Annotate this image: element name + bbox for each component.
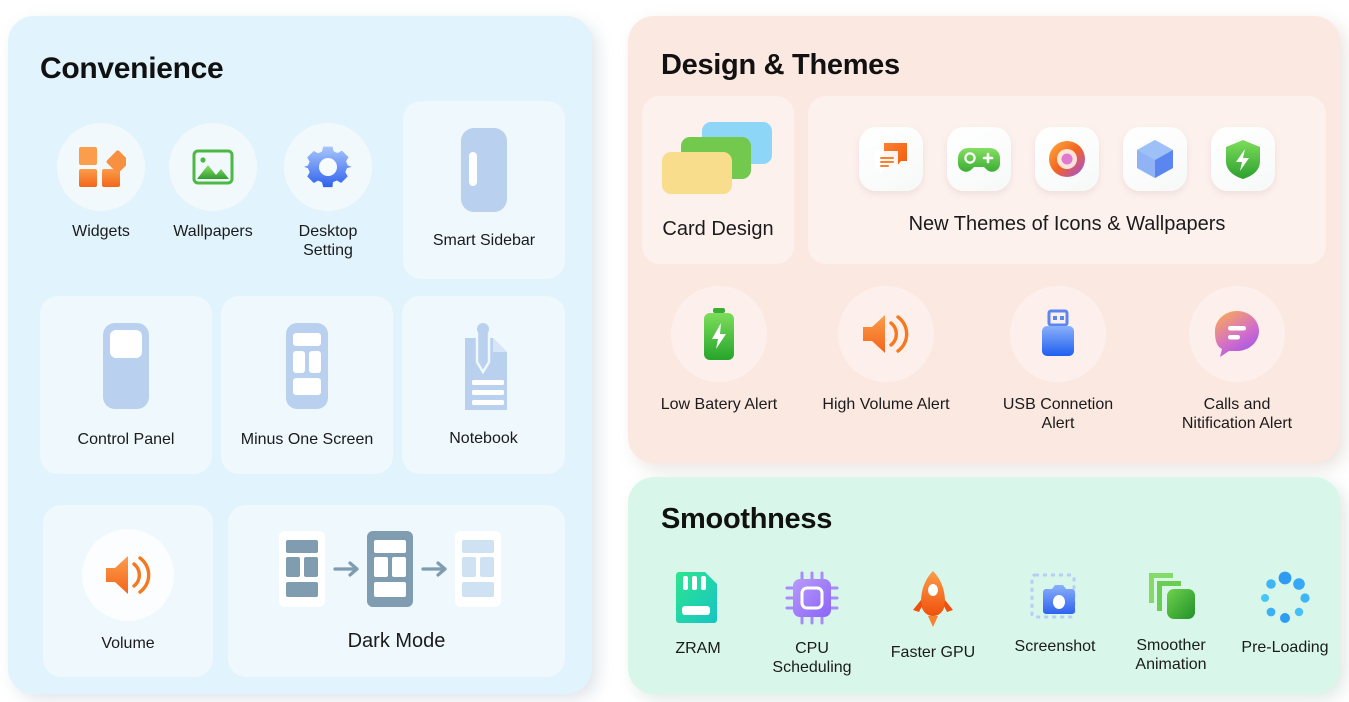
tile-label: Volume (101, 635, 154, 654)
tile-label: New Themes of Icons & Wallpapers (909, 213, 1226, 237)
tile-label: Control Panel (78, 431, 175, 450)
gallery-icon[interactable] (1035, 127, 1099, 191)
notebook-icon (451, 322, 517, 414)
tile-pre-loading[interactable]: Pre-Loading (1226, 571, 1344, 658)
cube-icon[interactable] (1123, 127, 1187, 191)
tile-low-battery-alert[interactable]: Low Batery Alert (644, 286, 794, 415)
panel-title-smoothness: Smoothness (661, 503, 1340, 536)
widgets-icon (57, 123, 145, 211)
wallpapers-icon (169, 123, 257, 211)
game-controller-icon[interactable] (947, 127, 1011, 191)
dark-mode-icon (277, 528, 517, 610)
panel-convenience: Convenience Widgets (8, 16, 592, 694)
tile-faster-gpu[interactable]: Faster GPU (878, 570, 988, 663)
tile-desktop-setting[interactable]: Desktop Setting (276, 123, 380, 261)
sd-card-icon (675, 570, 721, 624)
battery-charge-icon (671, 286, 767, 382)
tile-smart-sidebar[interactable]: Smart Sidebar (403, 101, 565, 279)
tile-card-design[interactable]: Card Design (642, 96, 794, 264)
tile-label: Smart Sidebar (433, 232, 535, 251)
tile-zram[interactable]: ZRAM (646, 570, 750, 659)
shield-bolt-icon[interactable] (1211, 127, 1275, 191)
messages-icon[interactable] (859, 127, 923, 191)
tile-label: ZRAM (675, 640, 720, 659)
stacked-cards-icon (1143, 567, 1199, 623)
tile-label: Low Batery Alert (661, 396, 778, 415)
tile-dark-mode[interactable]: Dark Mode (228, 505, 565, 677)
tile-label: Desktop Setting (299, 223, 358, 261)
tile-label: CPU Scheduling (772, 640, 851, 678)
screenshot-camera-icon (1029, 572, 1081, 624)
tile-cpu-scheduling[interactable]: CPU Scheduling (754, 570, 870, 678)
cpu-chip-icon (784, 570, 840, 626)
tile-calls-notification-alert[interactable]: Calls and Nitification Alert (1151, 286, 1323, 434)
usb-icon (1010, 286, 1106, 382)
panel-title-design: Design & Themes (661, 49, 1340, 82)
tile-notebook[interactable]: Notebook (402, 296, 565, 474)
tile-label: High Volume Alert (822, 396, 949, 415)
tile-control-panel[interactable]: Control Panel (40, 296, 212, 474)
tile-label: Screenshot (1015, 638, 1096, 657)
tile-label: Dark Mode (348, 630, 446, 654)
tile-label: Card Design (662, 218, 773, 242)
tile-label: Pre-Loading (1241, 639, 1328, 658)
volume-icon (82, 529, 174, 621)
desktop-setting-icon (284, 123, 372, 211)
control-panel-icon (94, 321, 158, 411)
tile-wallpapers[interactable]: Wallpapers (164, 123, 262, 242)
infographic-canvas: Convenience Widgets (0, 0, 1349, 702)
tile-screenshot[interactable]: Screenshot (993, 572, 1117, 657)
tile-label: Widgets (72, 223, 130, 242)
tile-widgets[interactable]: Widgets (52, 123, 150, 242)
tile-smoother-animation[interactable]: Smoother Animation (1107, 567, 1235, 675)
panel-smoothness: Smoothness ZRAM (628, 477, 1340, 694)
tile-high-volume-alert[interactable]: High Volume Alert (807, 286, 965, 415)
rocket-icon (909, 570, 957, 628)
tile-label: Minus One Screen (241, 431, 374, 450)
tile-minus-one-screen[interactable]: Minus One Screen (221, 296, 393, 474)
panel-design-themes: Design & Themes Card Design (628, 16, 1340, 463)
panel-title-convenience: Convenience (40, 52, 592, 86)
tile-volume[interactable]: Volume (43, 505, 213, 677)
minus-one-screen-icon (277, 321, 337, 411)
tile-label: Wallpapers (173, 223, 252, 242)
tile-label: Notebook (449, 430, 518, 449)
tile-label: Calls and Nitification Alert (1182, 396, 1292, 434)
volume-high-icon (838, 286, 934, 382)
card-design-icon (660, 120, 776, 198)
tile-usb-connection-alert[interactable]: USB Connetion Alert (978, 286, 1138, 434)
call-notification-icon (1189, 286, 1285, 382)
tile-label: Faster GPU (891, 644, 975, 663)
loading-spinner-icon (1258, 571, 1312, 625)
theme-icons-row (859, 127, 1275, 191)
tile-label: Smoother Animation (1135, 637, 1206, 675)
smart-sidebar-icon (453, 126, 515, 214)
tile-label: USB Connetion Alert (1003, 396, 1113, 434)
tile-new-themes[interactable]: New Themes of Icons & Wallpapers (808, 96, 1326, 264)
